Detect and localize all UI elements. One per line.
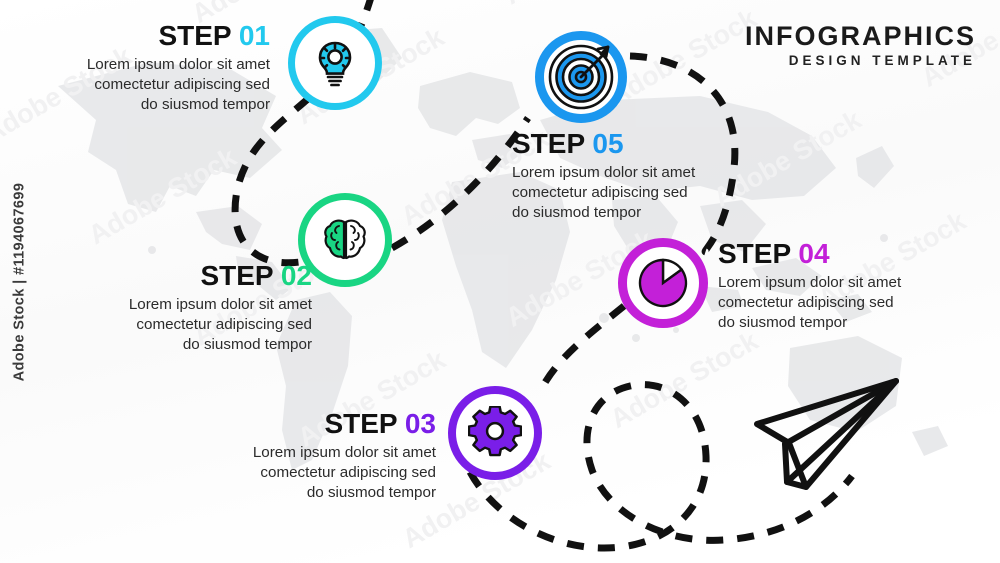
- gear-icon: [468, 406, 522, 460]
- watermark-text: Adobe Stock: [605, 325, 764, 434]
- step-node-03[interactable]: [448, 386, 542, 480]
- step-number-03: 03: [405, 408, 436, 439]
- step-body-01: Lorem ipsum dolor sit amet comectetur ad…: [30, 55, 270, 114]
- step-body-05: Lorem ipsum dolor sit amet comectetur ad…: [512, 163, 782, 222]
- target-icon: [546, 42, 616, 112]
- title-subtitle: DESIGN TEMPLATE: [745, 53, 976, 68]
- step-body-02: Lorem ipsum dolor sit amet comectetur ad…: [60, 295, 312, 354]
- adobe-stock-id-text: Adobe Stock | #1194067699: [11, 182, 27, 381]
- step-label-03: STEP: [324, 408, 404, 439]
- step-body-03: Lorem ipsum dolor sit amet comectetur ad…: [182, 443, 436, 502]
- step-block-05[interactable]: STEP 05 Lorem ipsum dolor sit amet comec…: [512, 130, 782, 222]
- infographic-canvas: Adobe Stock Adobe Stock Adobe Stock Adob…: [0, 0, 1000, 563]
- page-title: INFOGRAPHICS DESIGN TEMPLATE: [745, 22, 976, 68]
- step-label-02: STEP: [200, 260, 280, 291]
- step-node-04[interactable]: [618, 238, 708, 328]
- step-node-02[interactable]: [298, 193, 392, 287]
- step-node-01[interactable]: [288, 16, 382, 110]
- step-heading-02: STEP 02: [60, 262, 312, 290]
- step-heading-05: STEP 05: [512, 130, 782, 158]
- step-number-01: 01: [239, 20, 270, 51]
- step-block-03[interactable]: STEP 03 Lorem ipsum dolor sit amet comec…: [182, 410, 436, 502]
- step-block-01[interactable]: STEP 01 Lorem ipsum dolor sit amet comec…: [30, 22, 270, 114]
- step-label-05: STEP: [512, 128, 592, 159]
- step-heading-04: STEP 04: [718, 240, 980, 268]
- brain-icon: [317, 212, 373, 268]
- step-label-04: STEP: [718, 238, 798, 269]
- step-node-05[interactable]: [535, 31, 627, 123]
- step-block-04[interactable]: STEP 04 Lorem ipsum dolor sit amet comec…: [718, 240, 980, 332]
- title-main: INFOGRAPHICS: [745, 22, 976, 50]
- step-number-05: 05: [592, 128, 623, 159]
- watermark-text: Adobe Stock: [83, 141, 242, 250]
- step-heading-03: STEP 03: [182, 410, 436, 438]
- step-block-02[interactable]: STEP 02 Lorem ipsum dolor sit amet comec…: [60, 262, 312, 354]
- step-label-01: STEP: [158, 20, 238, 51]
- pie-chart-icon: [635, 255, 691, 311]
- step-heading-01: STEP 01: [30, 22, 270, 50]
- watermark-text: Adobe Stock: [499, 0, 658, 10]
- watermark-text: Adobe Stock: [604, 3, 763, 112]
- step-number-04: 04: [798, 238, 829, 269]
- step-body-04: Lorem ipsum dolor sit amet comectetur ad…: [718, 273, 980, 332]
- lightbulb-icon: [307, 35, 363, 91]
